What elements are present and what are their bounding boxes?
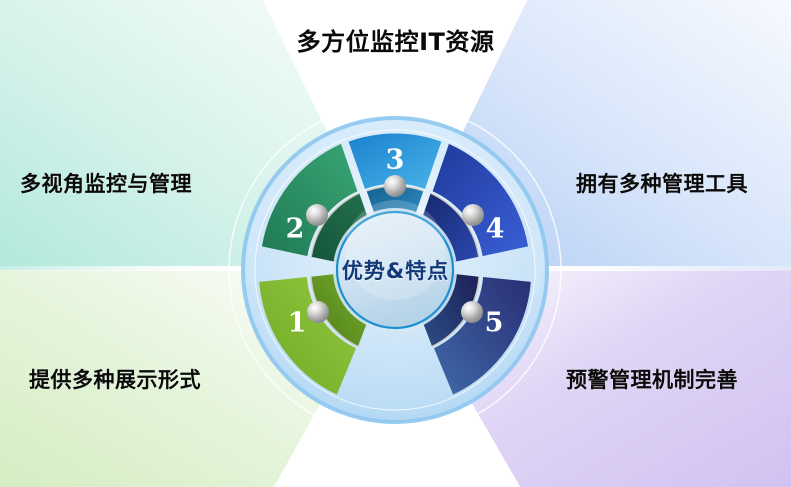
segment-4-number: 4 [486,214,505,245]
segment-5-knob[interactable] [461,301,483,323]
label-left-top: 多视角监控与管理 [20,168,192,198]
diagram-canvas: 3 2 1 4 [0,0,791,487]
center-label: 优势&特点 [0,255,791,285]
label-right-bottom: 预警管理机制完善 [566,364,738,394]
segment-4-knob[interactable] [462,204,484,226]
segment-1-knob[interactable] [307,301,329,323]
center-hub-gloss [345,200,445,300]
segment-3-knob[interactable] [384,175,406,197]
label-right-top: 拥有多种管理工具 [576,168,748,198]
segment-2-number: 2 [286,214,305,245]
segment-1-number: 1 [288,308,307,339]
segment-5-number: 5 [485,308,504,339]
label-left-bottom: 提供多种展示形式 [29,364,201,394]
page-title: 多方位监控IT资源 [0,22,791,57]
segment-2-knob[interactable] [306,204,328,226]
segment-3-number: 3 [386,145,405,176]
